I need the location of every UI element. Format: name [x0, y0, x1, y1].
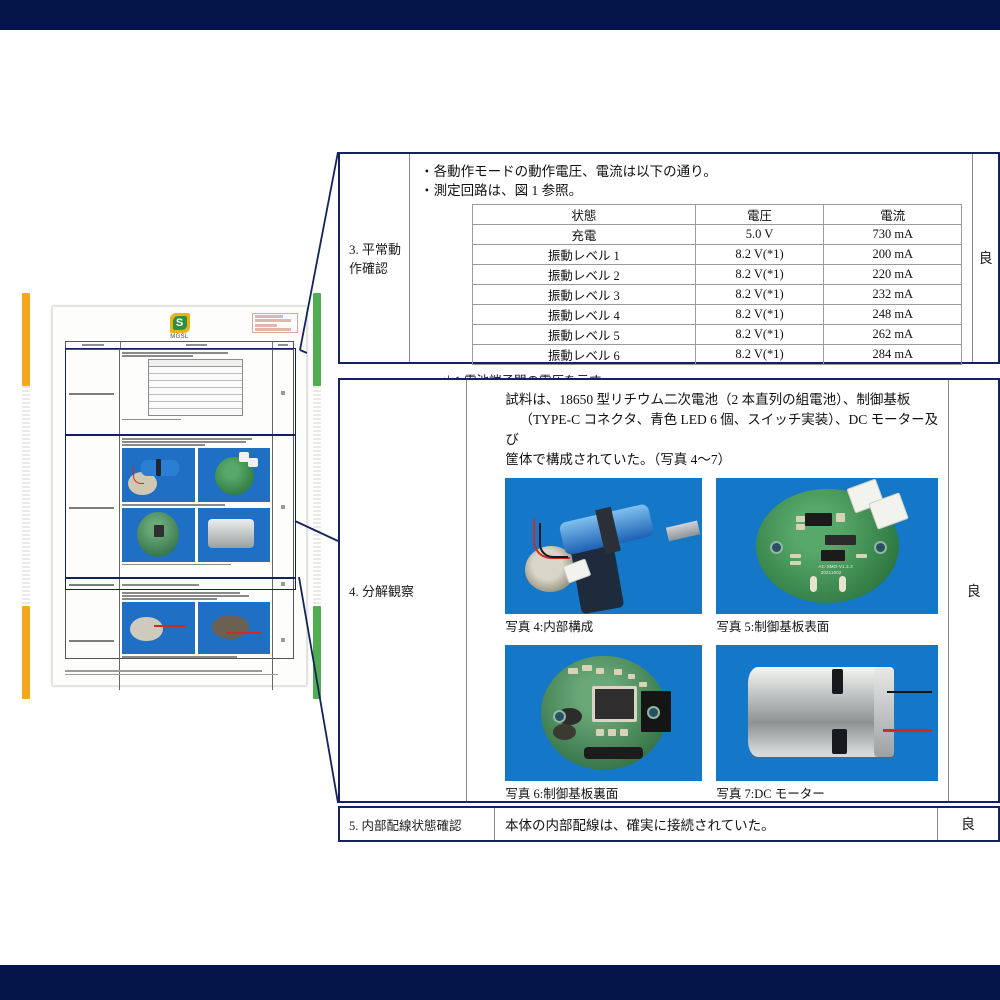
cell-current: 248 mA: [824, 305, 962, 325]
section-3-bullet-1: ・各動作モードの動作電圧、電流は以下の通り。: [420, 162, 962, 181]
table-row: 振動レベル 4 8.2 V(*1) 248 mA: [473, 305, 962, 325]
section-4-line-3: 筐体で構成されていた。（写真 4～7）: [505, 452, 731, 467]
photo-pcb-back: [505, 645, 702, 781]
thumbnail-photo-7: [198, 508, 270, 562]
cell-voltage: 8.2 V(*1): [695, 305, 824, 325]
right-accent-bar-bottom: [313, 606, 321, 699]
photo-internal-structure: [505, 478, 702, 614]
thumbnail-footnotes: [65, 670, 294, 677]
thumbnail-table-header: [66, 342, 293, 350]
right-tick-bar: [313, 386, 321, 606]
top-band: [0, 0, 1000, 30]
photo-cell-7: 写真 7:DC モーター: [716, 645, 938, 802]
measurement-table: 状態 電圧 電流 充電 5.0 V 730 mA 振動レベル 1 8.2 V(*…: [472, 204, 962, 365]
thumbnail-photo-8: [122, 602, 194, 654]
thumbnail-photo-5: [198, 448, 270, 502]
thumbnail-photo-4: [122, 448, 194, 502]
table-row: 振動レベル 2 8.2 V(*1) 220 mA: [473, 265, 962, 285]
header-state: 状態: [473, 205, 695, 225]
section-4-line-2: （TYPE-C コネクタ、青色 LED 6 個、スイッチ実装）、DC モーター及…: [505, 410, 938, 450]
right-accent-bar-top: [313, 293, 321, 386]
cell-voltage: 8.2 V(*1): [695, 325, 824, 345]
cell-voltage: 8.2 V(*1): [695, 245, 824, 265]
thumbnail-row-5: [66, 579, 293, 590]
section-4-paragraph: 試料は、18650 型リチウム二次電池（2 本直列の組電池）、制御基板 （TYP…: [505, 390, 938, 470]
photo-pcb-front: AC-SMO-V1.3.3 20211002: [716, 478, 938, 614]
cell-current: 220 mA: [824, 265, 962, 285]
photo-cell-4: 写真 4:内部構成: [505, 478, 702, 635]
table-row: 振動レベル 3 8.2 V(*1) 232 mA: [473, 285, 962, 305]
thumbnail-table: [65, 341, 294, 659]
thumbnail-document[interactable]: MGSL: [52, 306, 307, 686]
bottom-band: [0, 965, 1000, 1000]
thumbnail-row-3: [66, 350, 293, 436]
cell-state: 振動レベル 4: [473, 305, 695, 325]
cell-current: 262 mA: [824, 325, 962, 345]
cell-state: 振動レベル 6: [473, 345, 695, 365]
table-row: 振動レベル 5 8.2 V(*1) 262 mA: [473, 325, 962, 345]
section-4-body: 試料は、18650 型リチウム二次電池（2 本直列の組電池）、制御基板 （TYP…: [467, 380, 949, 801]
cell-voltage: 8.2 V(*1): [695, 285, 824, 305]
mgsl-mark-icon: [170, 313, 190, 333]
table-row: 充電 5.0 V 730 mA: [473, 225, 962, 245]
cell-current: 232 mA: [824, 285, 962, 305]
thumbnail-page: MGSL: [52, 306, 307, 686]
approval-stamp-box: [252, 313, 298, 333]
cell-voltage: 8.2 V(*1): [695, 265, 824, 285]
header-voltage: 電圧: [695, 205, 824, 225]
section-4-line-1: 試料は、18650 型リチウム二次電池（2 本直列の組電池）、制御基板: [505, 392, 910, 407]
cell-state: 充電: [473, 225, 695, 245]
thumbnail-photo-6: [122, 508, 194, 562]
photo-caption-7: 写真 7:DC モーター: [716, 783, 938, 802]
cell-state: 振動レベル 1: [473, 245, 695, 265]
photo-dc-motor: [716, 645, 938, 781]
panel-section-3: 3. 平常動作確認 ・各動作モードの動作電圧、電流は以下の通り。 ・測定回路は、…: [338, 152, 1000, 364]
thumbnail-photo-9: [198, 602, 270, 654]
section-3-bullet-2: ・測定回路は、図 1 参照。: [420, 181, 962, 200]
cell-current: 284 mA: [824, 345, 962, 365]
panel-section-4: 4. 分解観察 試料は、18650 型リチウム二次電池（2 本直列の組電池）、制…: [338, 378, 1000, 803]
measurement-table-header-row: 状態 電圧 電流: [473, 205, 962, 225]
thumbnail-row-4: [66, 436, 293, 579]
section-3-label: 3. 平常動作確認: [340, 154, 410, 362]
cell-current: 730 mA: [824, 225, 962, 245]
section-3-result: 良: [973, 154, 998, 362]
table-row: 振動レベル 1 8.2 V(*1) 200 mA: [473, 245, 962, 265]
photo-caption-6: 写真 6:制御基板裏面: [505, 783, 702, 802]
photo-grid: 写真 4:内部構成: [505, 478, 938, 802]
pcb-silk-1: AC-SMO-V1.3.3: [819, 564, 853, 569]
header-current: 電流: [824, 205, 962, 225]
cell-voltage: 8.2 V(*1): [695, 345, 824, 365]
cell-state: 振動レベル 2: [473, 265, 695, 285]
mgsl-logo: MGSL: [170, 313, 190, 340]
left-accent-bar-bottom: [22, 606, 30, 699]
photo-cell-6: 写真 6:制御基板裏面: [505, 645, 702, 802]
table-row: 振動レベル 6 8.2 V(*1) 284 mA: [473, 345, 962, 365]
cell-state: 振動レベル 5: [473, 325, 695, 345]
left-accent-bar-top: [22, 293, 30, 386]
section-3-body: ・各動作モードの動作電圧、電流は以下の通り。 ・測定回路は、図 1 参照。 状態…: [410, 154, 973, 362]
section-5-body: 本体の内部配線は、確実に接続されていた。: [495, 808, 938, 840]
photo-caption-4: 写真 4:内部構成: [505, 616, 702, 635]
section-4-label: 4. 分解観察: [340, 380, 467, 801]
photo-caption-5: 写真 5:制御基板表面: [716, 616, 938, 635]
cell-current: 200 mA: [824, 245, 962, 265]
section-5-label: 5. 内部配線状態確認: [340, 808, 495, 840]
mgsl-wordmark: MGSL: [170, 334, 190, 340]
cell-voltage: 5.0 V: [695, 225, 824, 245]
panel-section-5: 5. 内部配線状態確認 本体の内部配線は、確実に接続されていた。 良: [338, 806, 1000, 842]
photo-cell-5: AC-SMO-V1.3.3 20211002 写真 5:制御基板表面: [716, 478, 938, 635]
section-4-result: 良: [949, 380, 998, 801]
left-tick-bar: [22, 386, 30, 606]
cell-state: 振動レベル 3: [473, 285, 695, 305]
pcb-silk-2: 20211002: [821, 570, 842, 575]
section-5-result: 良: [938, 808, 998, 840]
